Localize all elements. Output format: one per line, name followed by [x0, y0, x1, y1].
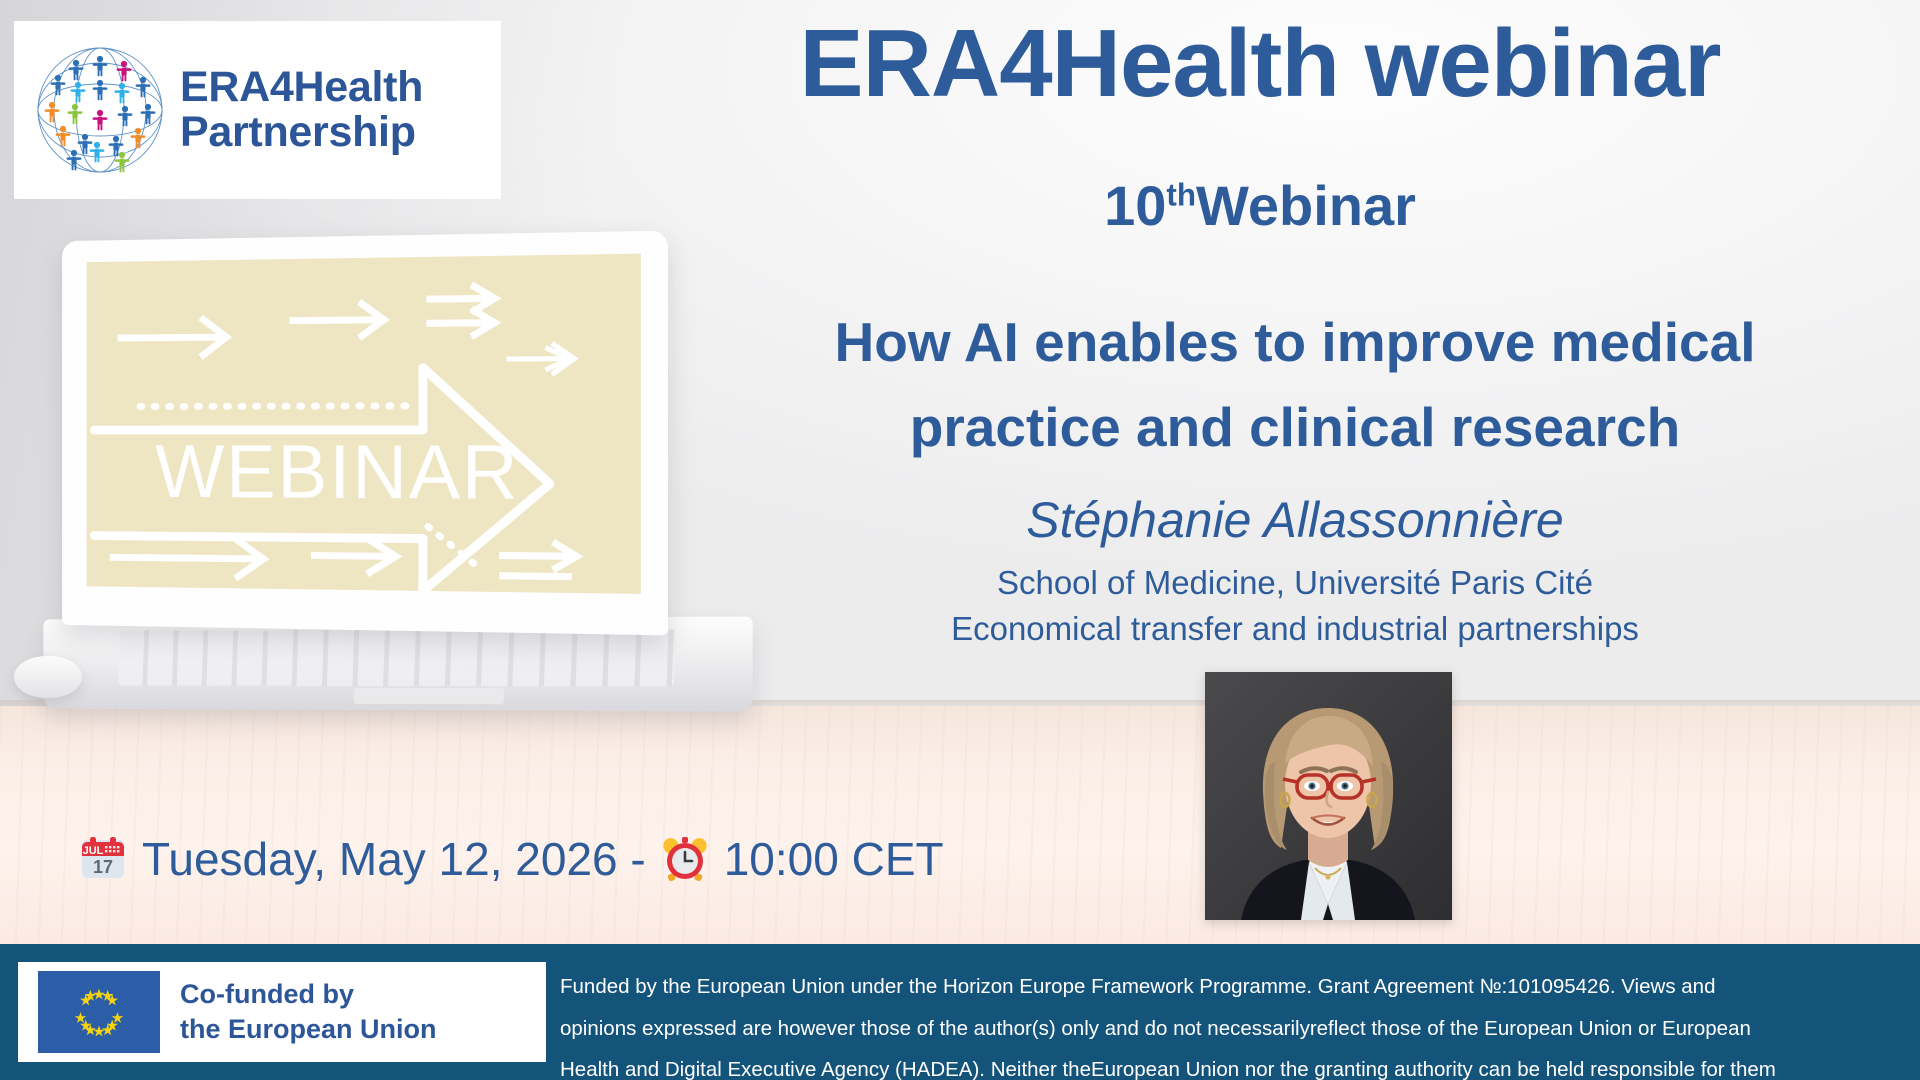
era4health-logo: ERA4Health Partnership: [14, 21, 501, 199]
eu-flag-icon: [38, 971, 160, 1053]
webinar-topic: How AI enables to improve medical practi…: [700, 300, 1890, 471]
eu-cofunded-logo: Co-funded by the European Union: [18, 962, 546, 1062]
laptop-screen-text: WEBINAR: [155, 429, 520, 516]
logo-line-2: Partnership: [180, 110, 423, 155]
logo-line-1: ERA4Health: [180, 65, 423, 110]
topic-line-2: practice and clinical research: [700, 385, 1890, 470]
desk-wood-grain: [0, 706, 1920, 946]
funding-footer: Co-funded by the European Union Funded b…: [0, 944, 1920, 1080]
edition-number: 10: [1104, 174, 1166, 237]
edition-label: Webinar: [1196, 174, 1416, 237]
calendar-icon: JUL 17: [78, 834, 128, 884]
laptop-screen: WEBINAR: [87, 254, 641, 594]
funding-disclaimer: Funded by the European Union under the H…: [560, 966, 1905, 1080]
event-datetime: JUL 17 Tuesday, May 12, 2026 - 10:00 CET: [78, 832, 944, 886]
laptop-trackpad: [354, 688, 504, 704]
era4health-logo-text: ERA4Health Partnership: [180, 65, 423, 154]
disclaimer-line-1: Funded by the European Union under the H…: [560, 966, 1905, 1008]
calendar-icon-day: 17: [93, 857, 113, 877]
laptop-lid: WEBINAR: [62, 231, 668, 636]
topic-line-1: How AI enables to improve medical: [700, 300, 1890, 385]
eu-line-2: the European Union: [180, 1012, 437, 1047]
eu-line-1: Co-funded by: [180, 977, 437, 1012]
speaker-portrait: [1205, 672, 1452, 920]
calendar-icon-month: JUL: [83, 845, 104, 857]
people-globe-icon: [30, 40, 170, 180]
webinar-poster: WEBINAR: [0, 0, 1920, 1080]
event-date-text: Tuesday, May 12, 2026 -: [142, 832, 646, 886]
disclaimer-line-2: opinions expressed are however those of …: [560, 1008, 1905, 1050]
event-time-text: 10:00 CET: [724, 832, 944, 886]
eu-cofunded-text: Co-funded by the European Union: [180, 977, 437, 1046]
computer-mouse: [14, 656, 82, 698]
webinar-arrow-graphic: WEBINAR: [87, 254, 641, 594]
speaker-affiliation-2: Economical transfer and industrial partn…: [700, 608, 1890, 649]
speaker-affiliation-1: School of Medicine, Université Paris Cit…: [700, 562, 1890, 603]
page-title: ERA4Health webinar: [620, 14, 1900, 115]
speaker-name: Stéphanie Allassonnière: [700, 490, 1890, 550]
disclaimer-line-3: Health and Digital Executive Agency (HAD…: [560, 1049, 1905, 1080]
alarm-clock-icon: [660, 834, 710, 884]
edition-suffix: th: [1166, 177, 1196, 212]
laptop-illustration: WEBINAR: [24, 236, 764, 706]
laptop-keyboard: [118, 629, 676, 686]
webinar-edition: 10thWebinar: [620, 175, 1900, 237]
